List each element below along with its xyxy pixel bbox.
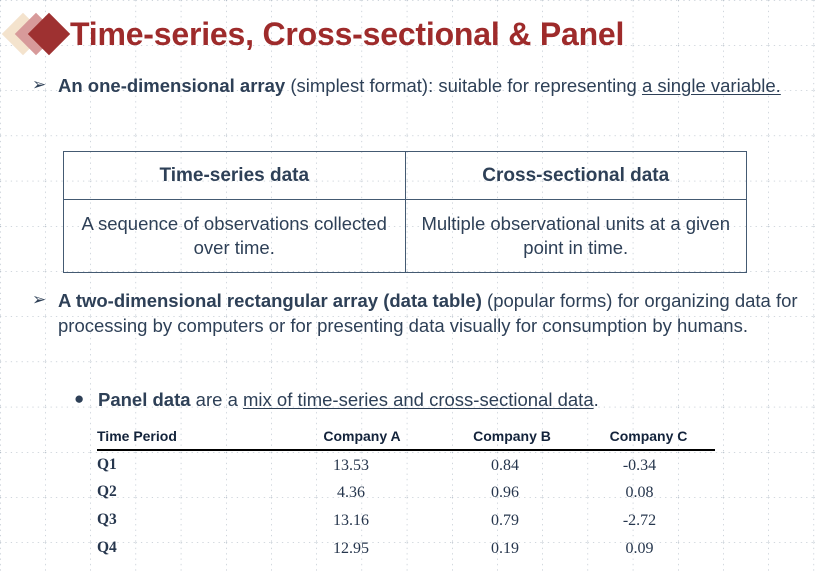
bullet-item-three: ● Panel data are a mix of time-series an… — [74, 388, 794, 413]
table-row: Q2 4.36 0.96 0.08 — [97, 479, 715, 507]
column-header-cross-sectional: Cross-sectional data — [405, 152, 747, 200]
cell-company-b: 0.96 — [442, 479, 582, 507]
bullet-three-mid: are a — [191, 389, 243, 410]
cell-time-series-definition: A sequence of observations collected ove… — [64, 200, 406, 273]
bullet-three-text: Panel data are a mix of time-series and … — [98, 388, 599, 413]
cell-company-c: 0.09 — [582, 534, 715, 562]
bullet-one-mid: (simplest format): suitable for represen… — [285, 75, 642, 96]
arrow-bullet-icon: ➢ — [32, 289, 58, 311]
cell-period: Q2 — [97, 479, 282, 507]
table-header-row: Time-series data Cross-sectional data — [64, 152, 747, 200]
bullet-one-text: An one-dimensional array (simplest forma… — [58, 74, 781, 99]
bullet-three-underlined: mix of time-series and cross-sectional d… — [243, 389, 594, 410]
page-title: Time-series, Cross-sectional & Panel — [70, 18, 624, 50]
round-bullet-icon: ● — [74, 388, 98, 410]
cell-company-b: 0.84 — [442, 450, 582, 479]
cell-cross-sectional-definition: Multiple observational units at a given … — [405, 200, 747, 273]
table-row: Q3 13.16 0.79 -2.72 — [97, 506, 715, 534]
cell-period: Q3 — [97, 506, 282, 534]
cell-company-c: 0.08 — [582, 479, 715, 507]
bullet-three-tail: . — [594, 389, 599, 410]
column-header-company-c: Company C — [582, 428, 715, 450]
bullet-one-underlined-tail: a single variable. — [642, 75, 781, 96]
cell-company-c: -2.72 — [582, 506, 715, 534]
bullet-two-text: A two-dimensional rectangular array (dat… — [58, 289, 807, 338]
cell-company-a: 13.16 — [282, 506, 442, 534]
bullet-item-one: ➢ An one-dimensional array (simplest for… — [32, 74, 792, 99]
cell-company-b: 0.19 — [442, 534, 582, 562]
bullet-three-bold-lead: Panel data — [98, 389, 191, 410]
arrow-bullet-icon: ➢ — [32, 74, 58, 96]
panel-table-body: Q1 13.53 0.84 -0.34 Q2 4.36 0.96 0.08 Q3… — [97, 450, 715, 562]
column-header-time-series: Time-series data — [64, 152, 406, 200]
table-row: Q4 12.95 0.19 0.09 — [97, 534, 715, 562]
cell-company-a: 4.36 — [282, 479, 442, 507]
three-diamonds-icon — [6, 11, 70, 57]
cell-company-a: 13.53 — [282, 450, 442, 479]
cell-company-a: 12.95 — [282, 534, 442, 562]
slide-canvas: Time-series, Cross-sectional & Panel ➢ A… — [0, 0, 815, 571]
bullet-item-two: ➢ A two-dimensional rectangular array (d… — [32, 289, 807, 338]
column-header-time-period: Time Period — [97, 428, 282, 450]
panel-data-table: Time Period Company A Company B Company … — [97, 428, 715, 562]
column-header-company-b: Company B — [442, 428, 582, 450]
cell-period: Q1 — [97, 450, 282, 479]
slide-title-row: Time-series, Cross-sectional & Panel — [0, 8, 624, 60]
panel-table-header-row: Time Period Company A Company B Company … — [97, 428, 715, 450]
cell-company-c: -0.34 — [582, 450, 715, 479]
table-row: A sequence of observations collected ove… — [64, 200, 747, 273]
column-header-company-a: Company A — [282, 428, 442, 450]
table-row: Q1 13.53 0.84 -0.34 — [97, 450, 715, 479]
bullet-two-bold-lead: A two-dimensional rectangular array (dat… — [58, 290, 482, 311]
cell-period: Q4 — [97, 534, 282, 562]
cell-company-b: 0.79 — [442, 506, 582, 534]
comparison-table: Time-series data Cross-sectional data A … — [63, 151, 747, 273]
bullet-one-bold-lead: An one-dimensional array — [58, 75, 285, 96]
